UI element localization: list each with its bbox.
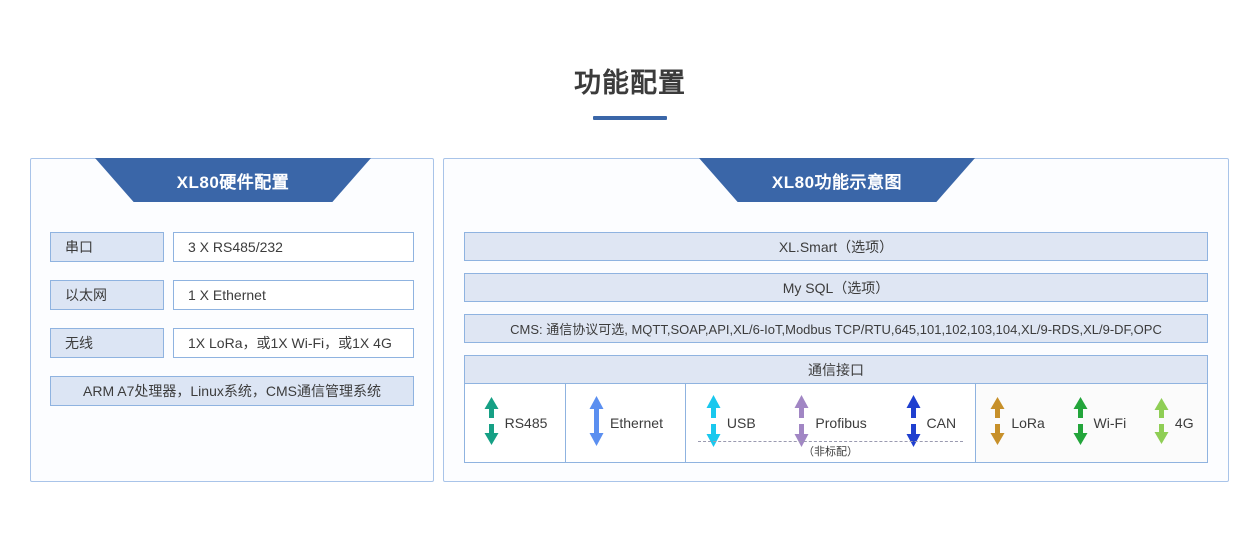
title-underline-rule [593, 116, 667, 120]
spec-value-serial: 3 X RS485/232 [173, 232, 414, 262]
communication-interface-block: 通信接口 RS485 [464, 355, 1208, 463]
interface-group-rs485: RS485 [465, 384, 565, 462]
double-arrow-icon [1153, 397, 1170, 450]
function-panel-banner: XL80功能示意图 [699, 158, 975, 202]
optional-note: （非标配） [698, 441, 963, 459]
interface-item-wifi: Wi-Fi [1068, 396, 1131, 451]
interface-label-lora: LoRa [1011, 415, 1044, 431]
spec-label-wireless: 无线 [50, 328, 164, 358]
communication-interface-body: RS485 Ethernet [465, 384, 1207, 462]
function-layer-stack: XL.Smart（选项） My SQL（选项） CMS: 通信协议可选, MQT… [464, 232, 1208, 463]
double-arrow-icon [1072, 396, 1089, 451]
hardware-panel-banner: XL80硬件配置 [95, 158, 371, 202]
spec-platform-summary: ARM A7处理器，Linux系统，CMS通信管理系统 [50, 376, 414, 406]
interface-item-4g: 4G [1149, 397, 1198, 450]
page-title-block: 功能配置 [0, 66, 1260, 120]
spec-label-serial: 串口 [50, 232, 164, 262]
double-arrow-icon [989, 396, 1006, 451]
interface-label-usb: USB [727, 415, 756, 431]
interface-label-ethernet: Ethernet [610, 415, 663, 431]
interface-label-4g: 4G [1175, 415, 1194, 431]
interface-label-can: CAN [927, 415, 957, 431]
interface-group-wireless: LoRa Wi-Fi [975, 384, 1207, 462]
optional-note-label: （非标配） [698, 443, 963, 459]
spec-label-ethernet: 以太网 [50, 280, 164, 310]
table-row: 串口 3 X RS485/232 [50, 232, 414, 262]
hardware-config-panel: XL80硬件配置 串口 3 X RS485/232 以太网 1 X Ethern… [30, 158, 434, 482]
interface-item-rs485: RS485 [479, 396, 552, 451]
spec-value-ethernet: 1 X Ethernet [173, 280, 414, 310]
optional-dotted-divider [698, 441, 963, 442]
interface-group-optional: USB Profibus [685, 384, 975, 462]
double-arrow-icon [588, 395, 605, 452]
interface-label-rs485: RS485 [505, 415, 548, 431]
interface-label-profibus: Profibus [815, 415, 866, 431]
interface-group-ethernet: Ethernet [565, 384, 685, 462]
hardware-spec-list: 串口 3 X RS485/232 以太网 1 X Ethernet 无线 1X … [50, 232, 414, 406]
interface-label-wifi: Wi-Fi [1094, 415, 1127, 431]
page-title: 功能配置 [0, 66, 1260, 100]
layer-xlsmart: XL.Smart（选项） [464, 232, 1208, 261]
communication-interface-header: 通信接口 [465, 356, 1207, 384]
function-diagram-panel: XL80功能示意图 XL.Smart（选项） My SQL（选项） CMS: 通… [443, 158, 1229, 482]
double-arrow-icon [483, 396, 500, 451]
table-row: 无线 1X LoRa，或1X Wi-Fi，或1X 4G [50, 328, 414, 358]
table-row: 以太网 1 X Ethernet [50, 280, 414, 310]
layer-cms-protocols: CMS: 通信协议可选, MQTT,SOAP,API,XL/6-IoT,Modb… [464, 314, 1208, 343]
interface-item-lora: LoRa [985, 396, 1048, 451]
interface-item-ethernet: Ethernet [584, 395, 667, 452]
spec-value-wireless: 1X LoRa，或1X Wi-Fi，或1X 4G [173, 328, 414, 358]
layer-mysql: My SQL（选项） [464, 273, 1208, 302]
